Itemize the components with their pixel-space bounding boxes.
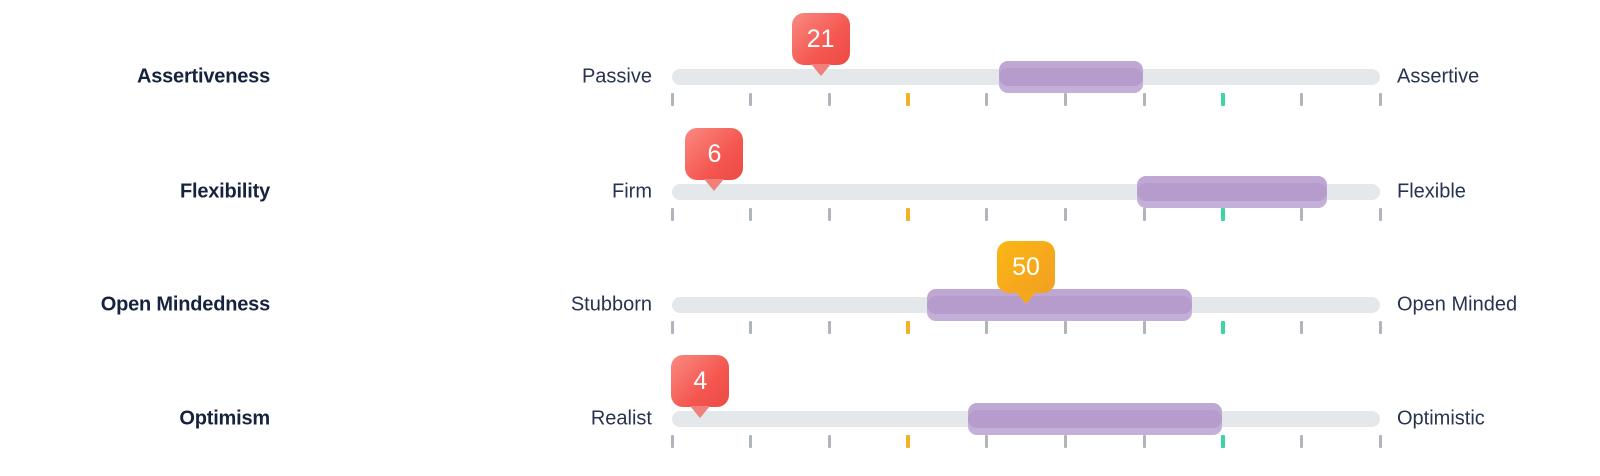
score-badge-value: 6 <box>708 142 722 167</box>
badge-pointer-icon <box>811 64 831 76</box>
scale-tick-grey <box>828 321 831 334</box>
scale-tick-grey <box>749 93 752 106</box>
scale-ticks <box>672 208 1380 222</box>
scale-tick-grey <box>1379 208 1382 221</box>
pole-label-right: Flexible <box>1397 181 1597 204</box>
range-bar[interactable] <box>1137 176 1327 208</box>
scale-tick-warn <box>906 435 910 448</box>
score-badge[interactable]: 6 <box>685 128 743 180</box>
scale-tick-grey <box>1143 208 1146 221</box>
pole-label-right: Assertive <box>1397 66 1597 89</box>
scale-tick-grey <box>1379 321 1382 334</box>
scale-tick-grey <box>985 435 988 448</box>
scale-ticks <box>672 435 1380 449</box>
trait-row: AssertivenessPassiveAssertive21 <box>0 20 1600 134</box>
badge-pointer-icon <box>1016 292 1036 304</box>
scale-tick-grey <box>1064 321 1067 334</box>
scale-tick-grey <box>828 93 831 106</box>
pole-label-left: Stubborn <box>300 294 652 317</box>
pole-label-left: Realist <box>300 408 652 431</box>
scale-tick-grey <box>828 208 831 221</box>
scale-tick-grey <box>1379 93 1382 106</box>
score-badge-value: 50 <box>1012 255 1040 280</box>
scale-tick-grey <box>1143 321 1146 334</box>
range-bar[interactable] <box>927 289 1193 321</box>
score-badge[interactable]: 21 <box>792 13 850 65</box>
scale-tick-grey <box>749 321 752 334</box>
scale-tick-warn <box>906 93 910 106</box>
scale-tick-grey <box>1300 208 1303 221</box>
pole-label-left: Firm <box>300 181 652 204</box>
scale-tick-grey <box>1143 93 1146 106</box>
scale-tick-warn <box>906 321 910 334</box>
scale-tick-grey <box>985 208 988 221</box>
scale-tick-good <box>1221 321 1225 334</box>
trait-row: OptimismRealistOptimistic4 <box>0 362 1600 476</box>
scale-tick-grey <box>828 435 831 448</box>
trait-name-label: Optimism <box>0 408 270 431</box>
score-badge-value: 4 <box>693 369 707 394</box>
trait-row: Open MindednessStubbornOpen Minded50 <box>0 248 1600 362</box>
score-badge-value: 21 <box>807 27 835 52</box>
range-bar[interactable] <box>999 61 1143 93</box>
trait-row: FlexibilityFirmFlexible6 <box>0 135 1600 249</box>
pole-label-right: Open Minded <box>1397 294 1597 317</box>
trait-name-label: Open Mindedness <box>0 294 270 317</box>
personality-trait-chart: AssertivenessPassiveAssertive21Flexibili… <box>0 0 1600 466</box>
scale-tick-grey <box>671 435 674 448</box>
scale-tick-grey <box>671 208 674 221</box>
scale-tick-good <box>1221 435 1225 448</box>
scale-tick-grey <box>1064 93 1067 106</box>
scale-tick-grey <box>1300 321 1303 334</box>
pole-label-left: Passive <box>300 66 652 89</box>
scale-tick-grey <box>1064 208 1067 221</box>
scale-tick-good <box>1221 208 1225 221</box>
scale-tick-grey <box>1143 435 1146 448</box>
scale-tick-grey <box>1300 435 1303 448</box>
pole-label-right: Optimistic <box>1397 408 1597 431</box>
scale-tick-good <box>1221 93 1225 106</box>
range-bar[interactable] <box>968 403 1222 435</box>
score-badge[interactable]: 50 <box>997 241 1055 293</box>
scale-tick-grey <box>749 208 752 221</box>
badge-pointer-icon <box>690 406 710 418</box>
trait-name-label: Flexibility <box>0 181 270 204</box>
badge-pointer-icon <box>704 179 724 191</box>
scale-tick-grey <box>671 321 674 334</box>
scale-tick-grey <box>985 321 988 334</box>
scale-tick-grey <box>1379 435 1382 448</box>
scale-tick-grey <box>749 435 752 448</box>
score-badge[interactable]: 4 <box>671 355 729 407</box>
scale-tick-grey <box>985 93 988 106</box>
scale-tick-warn <box>906 208 910 221</box>
scale-ticks <box>672 321 1380 335</box>
scale-tick-grey <box>1300 93 1303 106</box>
scale-tick-grey <box>1064 435 1067 448</box>
trait-name-label: Assertiveness <box>0 66 270 89</box>
scale-ticks <box>672 93 1380 107</box>
scale-tick-grey <box>671 93 674 106</box>
